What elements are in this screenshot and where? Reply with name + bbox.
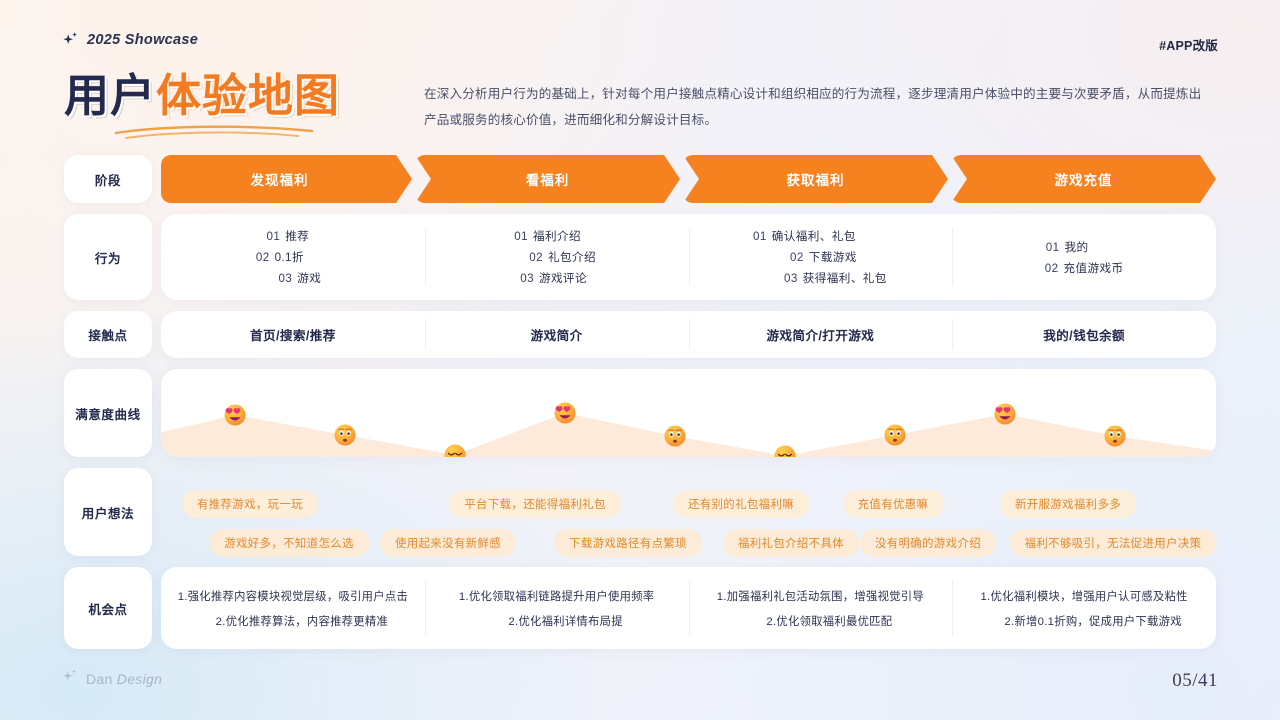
- behaviour-item: 01我的: [1046, 239, 1089, 255]
- behaviour-item-num: 02: [790, 251, 804, 264]
- satisfaction-emoji-worried: [1104, 425, 1126, 447]
- opportunity-item: 1.优化领取福利链路提升用户使用频率: [459, 588, 655, 604]
- satisfaction-emoji-worried: [664, 425, 686, 447]
- satisfaction-curve-svg: [161, 369, 1216, 457]
- behaviour-item-text: 游戏: [297, 272, 321, 285]
- thought-pill[interactable]: 下载游戏路径有点繁琐: [554, 529, 702, 557]
- page-title: 用户体验地图: [64, 72, 340, 120]
- stage-chip-1[interactable]: 发现福利: [161, 155, 412, 203]
- footer-brand-second: Design: [117, 671, 162, 687]
- footer-brand-label: Dan Design: [86, 671, 162, 687]
- behaviour-item-text: 下载游戏: [809, 251, 857, 264]
- behaviour-item-text: 充值游戏币: [1063, 262, 1123, 275]
- thought-pill[interactable]: 没有明确的游戏介绍: [860, 529, 996, 557]
- thought-pill[interactable]: 还有别的礼包福利嘛: [673, 490, 809, 518]
- row-body-opportunity: 1.强化推荐内容模块视觉层级，吸引用户点击 2.优化推荐算法，内容推荐更精准 1…: [161, 567, 1216, 649]
- row-body-behaviour: 01推荐 020.1折 03游戏 01福利介绍 02礼包介绍 03游戏评论 01…: [161, 214, 1216, 300]
- behaviour-item-text: 我的: [1064, 241, 1088, 254]
- behaviour-item-num: 03: [520, 272, 534, 285]
- opportunity-col-4: 1.优化福利模块，增强用户认可感及粘性 2.新增0.1折购，促成用户下载游戏: [952, 567, 1216, 649]
- touchpoint-text: 我的/钱包余额: [1043, 325, 1125, 344]
- opportunity-item: 1.加强福利礼包活动氛围，增强视觉引导: [717, 588, 924, 604]
- row-label-stage: 阶段: [64, 155, 152, 203]
- behaviour-col-3: 01确认福利、礼包 02下载游戏 03获得福利、礼包: [689, 214, 953, 300]
- behaviour-item-num: 02: [529, 251, 543, 264]
- thought-pill[interactable]: 游戏好多，不知道怎么选: [209, 529, 369, 557]
- behaviour-item-text: 福利介绍: [533, 230, 581, 243]
- row-thoughts: 用户想法 有推荐游戏，玩一玩平台下载，还能得福利礼包还有别的礼包福利嘛充值有优惠…: [64, 468, 1216, 556]
- touchpoint-text: 游戏简介: [531, 325, 583, 344]
- row-opportunity: 机会点 1.强化推荐内容模块视觉层级，吸引用户点击 2.优化推荐算法，内容推荐更…: [64, 567, 1216, 649]
- behaviour-item: 03游戏评论: [520, 270, 587, 286]
- satisfaction-emoji-relieved: [444, 444, 466, 457]
- topic-tag: #APP改版: [1159, 35, 1218, 54]
- behaviour-item: 02礼包介绍: [529, 249, 596, 265]
- page-number: 05/41: [1172, 670, 1218, 692]
- behaviour-item-text: 获得福利、礼包: [803, 272, 887, 285]
- behaviour-col-1: 01推荐 020.1折 03游戏: [161, 214, 425, 300]
- opportunity-col-3: 1.加强福利礼包活动氛围，增强视觉引导 2.优化领取福利最优匹配: [689, 567, 953, 649]
- behaviour-item: 01福利介绍: [514, 228, 581, 244]
- touchpoint-text: 游戏简介/打开游戏: [766, 325, 874, 344]
- behaviour-item-num: 03: [784, 272, 798, 285]
- row-body-satisfaction: [161, 369, 1216, 457]
- behaviour-item-num: 02: [1045, 262, 1059, 275]
- opportunity-columns: 1.强化推荐内容模块视觉层级，吸引用户点击 2.优化推荐算法，内容推荐更精准 1…: [161, 567, 1216, 649]
- behaviour-item: 03获得福利、礼包: [784, 270, 887, 286]
- behaviour-item-text: 游戏评论: [539, 272, 587, 285]
- row-body-thoughts: 有推荐游戏，玩一玩平台下载，还能得福利礼包还有别的礼包福利嘛充值有优惠嘛新开服游…: [161, 468, 1216, 556]
- row-body-touchpoint: 首页/搜索/推荐 游戏简介 游戏简介/打开游戏 我的/钱包余额: [161, 311, 1216, 358]
- row-behaviour: 行为 01推荐 020.1折 03游戏 01福利介绍 02礼包介绍 03游戏评论…: [64, 214, 1216, 300]
- row-label-behaviour: 行为: [64, 214, 152, 300]
- title-block: 用户体验地图: [64, 72, 340, 145]
- touchpoint-col-2: 游戏简介: [425, 311, 689, 358]
- opportunity-col-1: 1.强化推荐内容模块视觉层级，吸引用户点击 2.优化推荐算法，内容推荐更精准: [161, 567, 425, 649]
- touchpoint-columns: 首页/搜索/推荐 游戏简介 游戏简介/打开游戏 我的/钱包余额: [161, 311, 1216, 358]
- experience-map: 阶段 发现福利 看福利 获取福利 游戏充值 行为 01推荐 020.1折 03游…: [64, 155, 1216, 649]
- behaviour-item: 02充值游戏币: [1045, 260, 1124, 276]
- thought-pill[interactable]: 平台下载，还能得福利礼包: [449, 490, 621, 518]
- row-satisfaction: 满意度曲线: [64, 369, 1216, 457]
- touchpoint-col-1: 首页/搜索/推荐: [161, 311, 425, 358]
- title-underline-icon: [112, 124, 340, 145]
- opportunity-item: 2.优化领取福利最优匹配: [766, 613, 892, 629]
- satisfaction-area: [161, 413, 1216, 457]
- satisfaction-emoji-worried: [334, 424, 356, 446]
- thought-pill[interactable]: 福利不够吸引，无法促进用户决策: [1010, 529, 1217, 557]
- behaviour-item: 01确认福利、礼包: [753, 228, 856, 244]
- thought-pill-layer: 有推荐游戏，玩一玩平台下载，还能得福利礼包还有别的礼包福利嘛充值有优惠嘛新开服游…: [161, 468, 1216, 556]
- brand-label: 2025 Showcase: [87, 32, 198, 48]
- page-description: 在深入分析用户行为的基础上，针对每个用户接触点精心设计和组织相应的行为流程，逐步…: [424, 82, 1214, 134]
- behaviour-columns: 01推荐 020.1折 03游戏 01福利介绍 02礼包介绍 03游戏评论 01…: [161, 214, 1216, 300]
- satisfaction-emoji-heart-eyes: [554, 402, 576, 424]
- behaviour-item-num: 02: [256, 251, 270, 264]
- touchpoint-col-3: 游戏简介/打开游戏: [689, 311, 953, 358]
- row-label-satisfaction: 满意度曲线: [64, 369, 152, 457]
- behaviour-col-4: 01我的 02充值游戏币: [952, 214, 1216, 300]
- behaviour-item: 020.1折: [256, 249, 304, 265]
- opportunity-item: 1.强化推荐内容模块视觉层级，吸引用户点击: [178, 588, 408, 604]
- satisfaction-chart: [161, 369, 1216, 457]
- stage-chip-3[interactable]: 获取福利: [683, 155, 948, 203]
- thought-pill[interactable]: 新开服游戏福利多多: [1000, 490, 1136, 518]
- behaviour-item-num: 01: [1046, 241, 1060, 254]
- behaviour-item-num: 01: [267, 230, 281, 243]
- row-label-thoughts: 用户想法: [64, 468, 152, 556]
- behaviour-item: 03游戏: [279, 270, 322, 286]
- behaviour-item: 01推荐: [267, 228, 310, 244]
- touchpoint-col-4: 我的/钱包余额: [952, 311, 1216, 358]
- thought-pill[interactable]: 福利礼包介绍不具体: [723, 529, 859, 557]
- behaviour-item-num: 03: [279, 272, 293, 285]
- thought-pill[interactable]: 有推荐游戏，玩一玩: [182, 490, 318, 518]
- row-label-opportunity: 机会点: [64, 567, 152, 649]
- opportunity-col-2: 1.优化领取福利链路提升用户使用频率 2.优化福利详情布局提: [425, 567, 689, 649]
- stage-chip-2[interactable]: 看福利: [415, 155, 680, 203]
- sparkle-icon: [62, 668, 79, 690]
- row-touchpoint: 接触点 首页/搜索/推荐 游戏简介 游戏简介/打开游戏 我的/钱包余额: [64, 311, 1216, 358]
- behaviour-item-num: 01: [514, 230, 528, 243]
- opportunity-item: 2.新增0.1折购，促成用户下载游戏: [1004, 613, 1181, 629]
- satisfaction-emoji-heart-eyes: [224, 404, 246, 426]
- thought-pill[interactable]: 充值有优惠嘛: [843, 490, 944, 518]
- row-label-touchpoint: 接触点: [64, 311, 152, 358]
- satisfaction-emoji-heart-eyes: [994, 403, 1016, 425]
- behaviour-item-text: 推荐: [285, 230, 309, 243]
- row-body-stage: 发现福利 看福利 获取福利 游戏充值: [161, 155, 1216, 203]
- behaviour-item-num: 01: [753, 230, 767, 243]
- footer-brand-first: Dan: [86, 671, 117, 687]
- behaviour-col-2: 01福利介绍 02礼包介绍 03游戏评论: [425, 214, 689, 300]
- opportunity-item: 1.优化福利模块，增强用户认可感及粘性: [981, 588, 1188, 604]
- satisfaction-emoji-worried: [884, 424, 906, 446]
- stage-chip-4[interactable]: 游戏充值: [951, 155, 1216, 203]
- brand-mark: 2025 Showcase: [62, 31, 198, 49]
- sparkle-icon: [62, 31, 80, 49]
- opportunity-item: 2.优化福利详情布局提: [508, 613, 622, 629]
- opportunity-item: 2.优化推荐算法，内容推荐更精准: [216, 613, 388, 629]
- slide-canvas: 2025 Showcase #APP改版 用户体验地图 在深入分析用户行为的基础…: [0, 0, 1280, 720]
- behaviour-item: 02下载游戏: [790, 249, 857, 265]
- behaviour-item-text: 0.1折: [275, 251, 304, 264]
- page-title-dark: 用户: [64, 69, 156, 122]
- touchpoint-text: 首页/搜索/推荐: [250, 325, 336, 344]
- satisfaction-emoji-relieved: [774, 445, 796, 457]
- stage-chevrons: 发现福利 看福利 获取福利 游戏充值: [161, 155, 1216, 203]
- behaviour-item-text: 礼包介绍: [548, 251, 596, 264]
- row-stage: 阶段 发现福利 看福利 获取福利 游戏充值: [64, 155, 1216, 203]
- thought-pill[interactable]: 使用起来没有新鲜感: [380, 529, 516, 557]
- behaviour-item-text: 确认福利、礼包: [772, 230, 856, 243]
- page-title-orange: 体验地图: [156, 69, 340, 122]
- footer-brand: Dan Design: [62, 668, 162, 690]
